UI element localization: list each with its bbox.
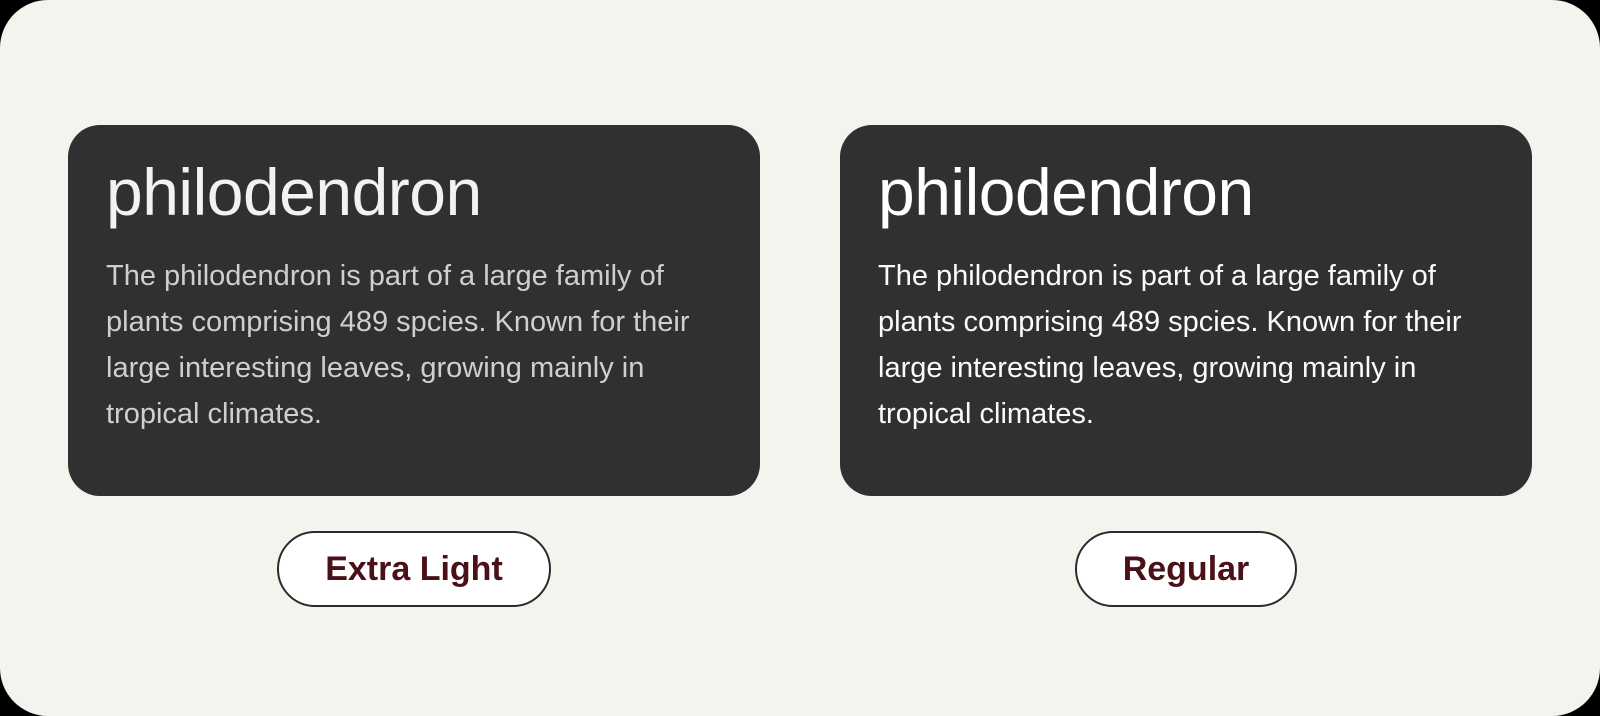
specimen-title-row-extra-light: philodendron [106, 155, 722, 231]
weight-chip-extra-light[interactable]: Extra Light [277, 531, 551, 607]
specimen-card-regular: philodendron The philodendron is part of… [840, 125, 1532, 496]
specimen-body-regular: The philodendron is part of a large fami… [878, 253, 1493, 437]
specimen-card-extra-light: philodendron The philodendron is part of… [68, 125, 760, 496]
weight-chip-regular[interactable]: Regular [1075, 531, 1298, 607]
type-specimen-page: philodendron The philodendron is part of… [0, 0, 1600, 716]
specimen-title-extra-light: philodendron [106, 155, 722, 231]
specimen-columns: philodendron The philodendron is part of… [68, 125, 1532, 607]
specimen-column-regular: philodendron The philodendron is part of… [840, 125, 1532, 607]
specimen-body-extra-light: The philodendron is part of a large fami… [106, 253, 721, 437]
specimen-title-row-regular: philodendron [878, 155, 1494, 231]
specimen-column-extra-light: philodendron The philodendron is part of… [68, 125, 760, 607]
specimen-title-regular: philodendron [878, 155, 1494, 231]
